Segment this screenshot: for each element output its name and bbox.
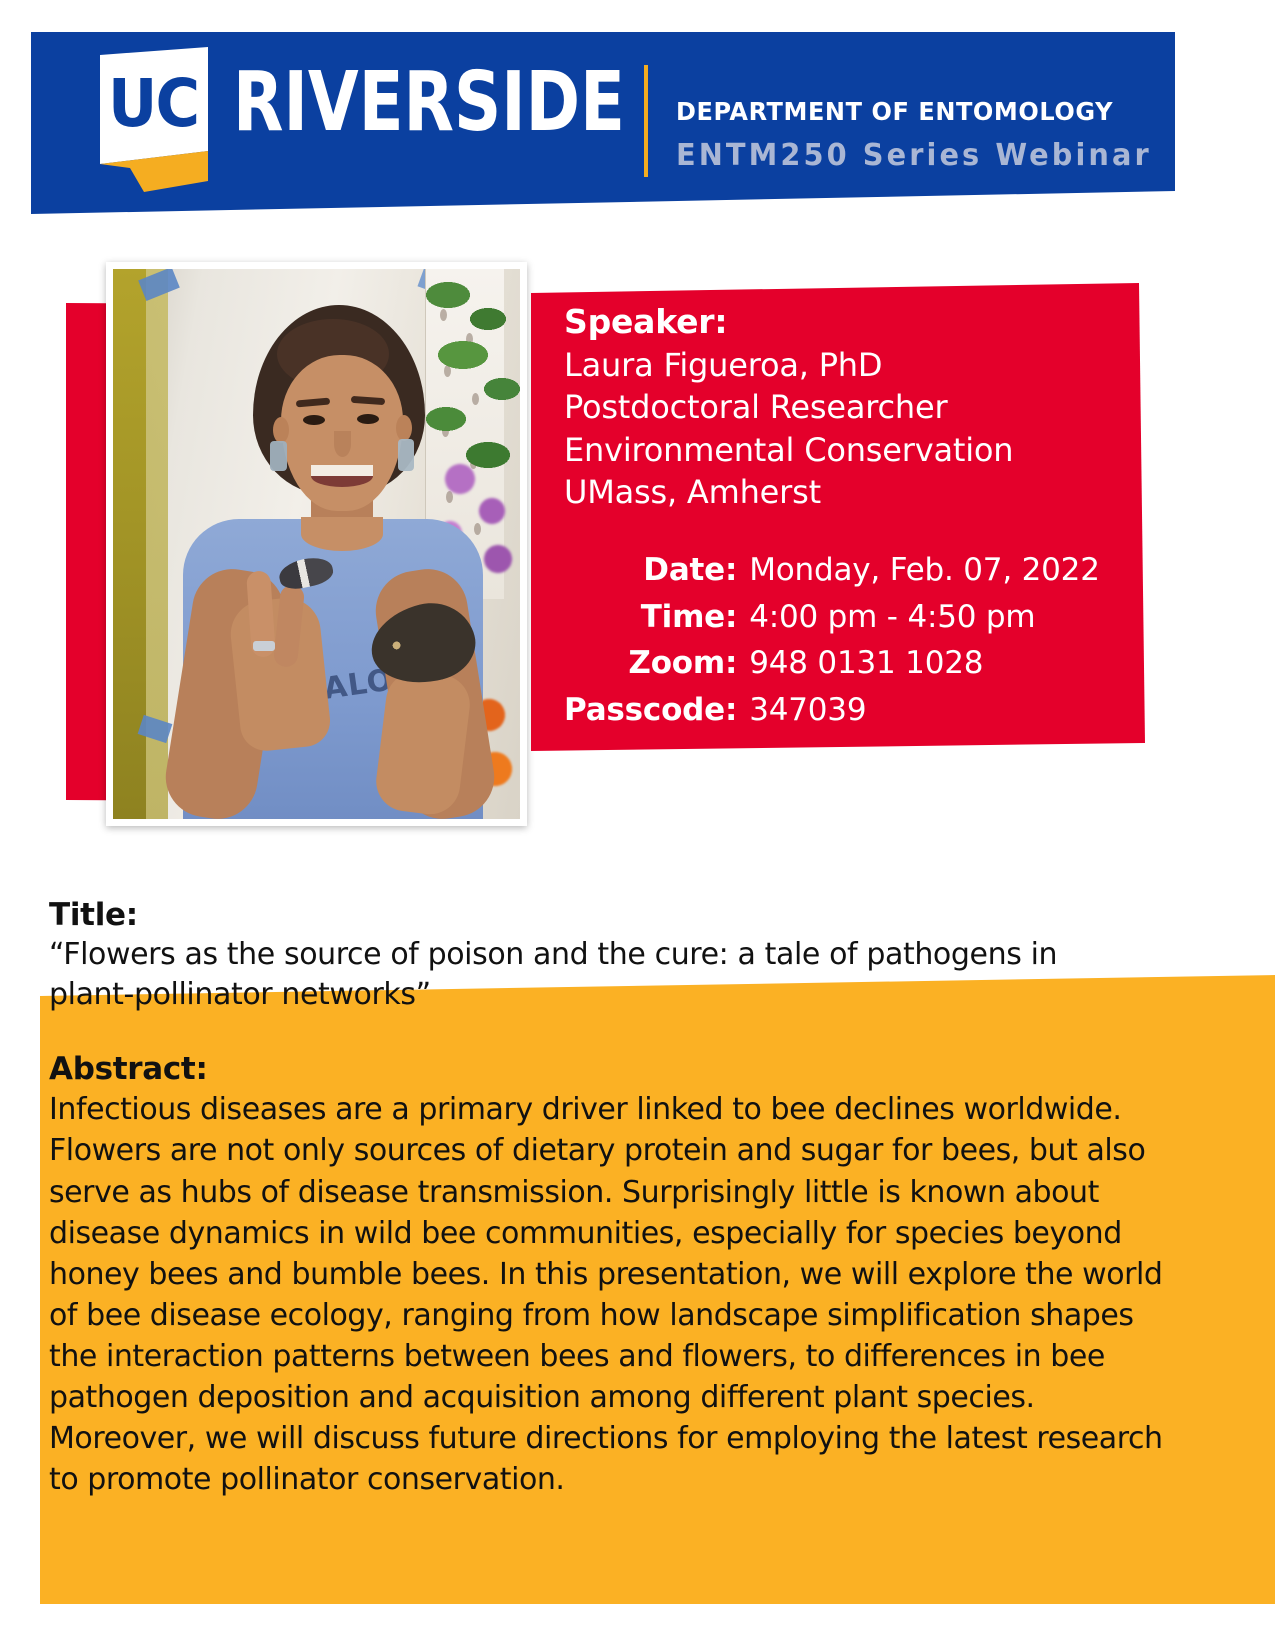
detail-value-passcode[interactable]: 347039 [749,690,1100,737]
photo-eye-left [303,415,325,425]
speaker-photo: APALOOZA [106,262,527,826]
department-label: DEPARTMENT OF ENTOMOLOGY [676,97,1113,126]
photo-ear-left [273,417,289,443]
speaker-name: Laura Figueroa, PhD [564,344,1164,387]
speaker-heading: Speaker: [564,300,1164,344]
photo-teeth [311,465,373,476]
photo-nose [334,431,351,457]
logo-uc-text: UC [108,71,200,137]
detail-label-zoom: Zoom: [564,643,749,690]
detail-label-passcode: Passcode: [564,690,749,737]
photo-ring [253,641,275,651]
photo-earring-right [398,439,414,471]
detail-label-date: Date: [564,550,749,597]
abstract-heading: Abstract: [49,1049,1179,1089]
series-label: ENTM250 Series Webinar [676,138,1152,173]
speaker-photo-image: APALOOZA [113,269,520,819]
detail-value-date: Monday, Feb. 07, 2022 [749,550,1100,597]
photo-ear-right [396,415,412,441]
photo-eye-right [357,414,379,424]
abstract-text: Infectious diseases are a primary driver… [49,1089,1164,1500]
photo-collar [301,517,383,551]
detail-value-zoom[interactable]: 948 0131 1028 [749,643,1100,690]
photo-mouth [311,465,373,487]
section-spacer [49,1015,1179,1049]
webinar-details-table: Date: Monday, Feb. 07, 2022 Time: 4:00 p… [564,550,1100,737]
detail-label-time: Time: [564,597,749,644]
abstract-content: Title: “Flowers as the source of poison … [49,895,1179,1500]
photo-green-panel [113,269,146,819]
title-heading: Title: [49,895,1179,935]
speaker-info-content: Speaker: Laura Figueroa, PhD Postdoctora… [564,300,1164,737]
logo-riverside-wordmark: RIVERSIDE [233,62,625,144]
uc-riverside-logo-icon: UC [88,47,208,192]
speaker-department: Environmental Conservation [564,429,1164,472]
table-row: Date: Monday, Feb. 07, 2022 [564,550,1100,597]
speaker-affiliation: UMass, Amherst [564,471,1164,514]
header-content: UC RIVERSIDE DEPARTMENT OF ENTOMOLOGY EN… [0,0,1275,260]
speaker-role: Postdoctoral Researcher [564,386,1164,429]
detail-value-time: 4:00 pm - 4:50 pm [749,597,1100,644]
table-row: Zoom: 948 0131 1028 [564,643,1100,690]
table-row: Passcode: 347039 [564,690,1100,737]
header-divider [644,65,648,177]
photo-earring-left [270,441,287,471]
talk-title: “Flowers as the source of poison and the… [49,935,1109,1015]
table-row: Time: 4:00 pm - 4:50 pm [564,597,1100,644]
